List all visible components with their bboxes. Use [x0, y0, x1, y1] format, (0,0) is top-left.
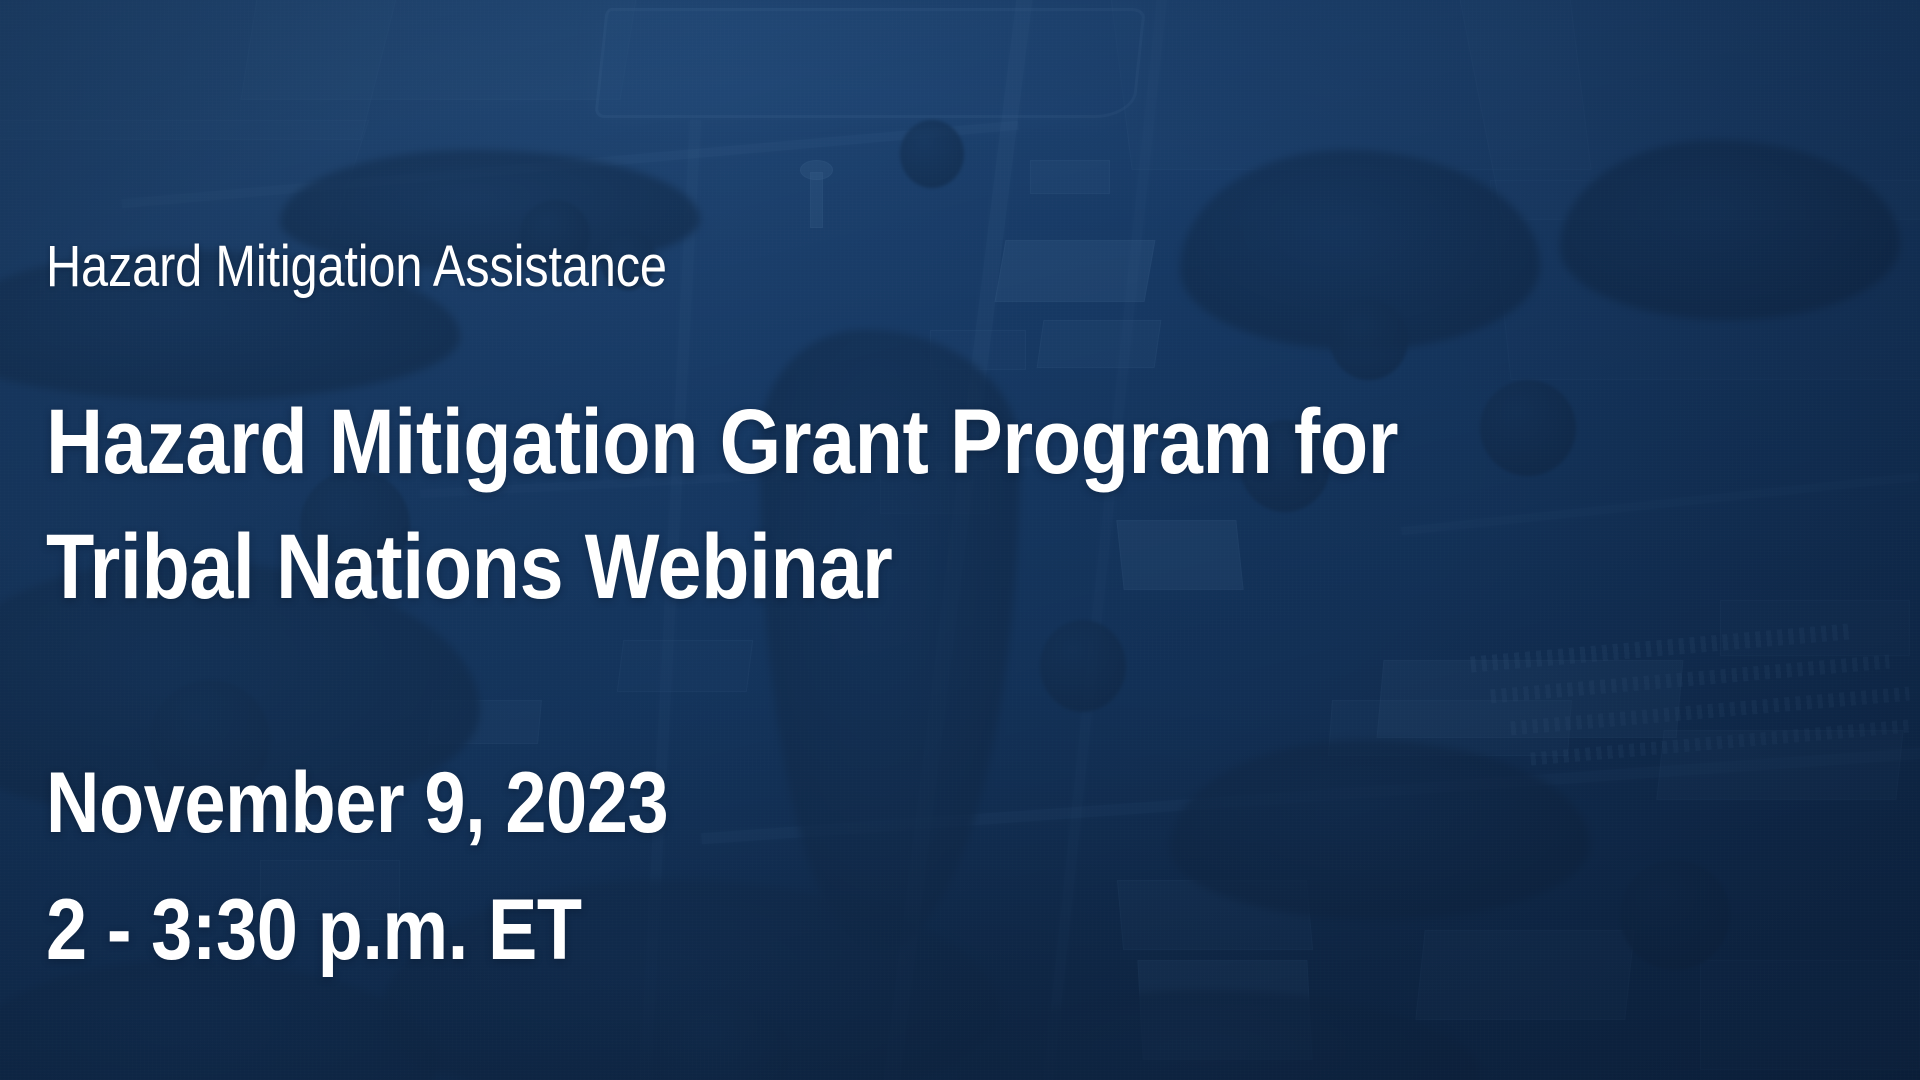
headline-line-2: Tribal Nations Webinar	[46, 505, 1525, 630]
page-title: Hazard Mitigation Grant Program for Trib…	[46, 380, 1525, 630]
event-date: November 9, 2023	[46, 740, 668, 867]
program-eyebrow-label: Hazard Mitigation Assistance	[46, 238, 667, 296]
text-overlay: Hazard Mitigation Assistance Hazard Miti…	[46, 0, 1806, 1080]
headline-line-1: Hazard Mitigation Grant Program for	[46, 380, 1525, 505]
event-time: 2 - 3:30 p.m. ET	[46, 867, 668, 994]
webinar-promo-slide: Hazard Mitigation Assistance Hazard Miti…	[0, 0, 1920, 1080]
event-schedule: November 9, 2023 2 - 3:30 p.m. ET	[46, 740, 668, 995]
